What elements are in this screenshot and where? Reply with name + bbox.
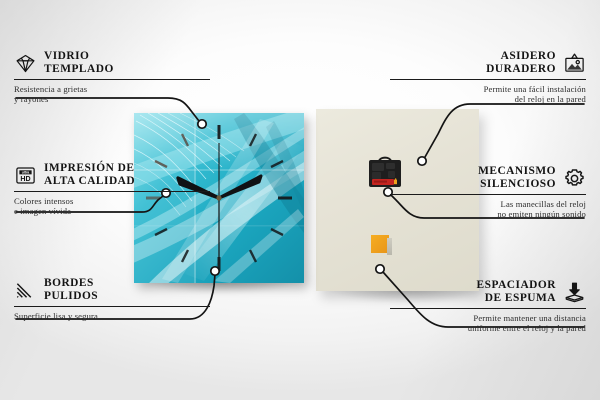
ultra-hd-icon: ultra HD <box>14 164 37 187</box>
desc-line-1: Colores intensos <box>14 196 210 206</box>
divider <box>390 194 586 195</box>
feature-asidero-duradero: ASIDERO DURADERO Permite una fácil insta… <box>390 50 586 105</box>
title-line-1: IMPRESIÓN DE <box>44 162 135 175</box>
title-line-1: ESPACIADOR <box>477 279 556 292</box>
feature-espaciador-espuma: ESPACIADOR DE ESPUMA Permite mantener un… <box>390 279 586 334</box>
divider <box>14 191 210 192</box>
feature-title: ESPACIADOR DE ESPUMA <box>477 279 556 305</box>
divider <box>14 79 210 80</box>
feature-header: MECANISMO SILENCIOSO <box>390 165 586 191</box>
title-line-2: TEMPLADO <box>44 63 114 76</box>
feature-description: Permite mantener una distancia uniforme … <box>390 313 586 334</box>
press-down-pad-icon <box>563 281 586 304</box>
hanging-frame-icon <box>563 52 586 75</box>
feature-description: Permite una fácil instalación del reloj … <box>390 84 586 105</box>
feature-title: MECANISMO SILENCIOSO <box>478 165 556 191</box>
divider <box>390 308 586 309</box>
hd-label: HD <box>20 175 30 183</box>
feature-description: Resistencia a grietas y rayones <box>14 84 210 105</box>
desc-line-2: y rayones <box>14 94 210 104</box>
title-line-1: ASIDERO <box>486 50 556 63</box>
foam-spacer <box>371 235 389 253</box>
feature-header: VIDRIO TEMPLADO <box>14 50 210 76</box>
feature-title: BORDES PULIDOS <box>44 277 98 303</box>
desc-line-2: del reloj en la pared <box>390 94 586 104</box>
divider <box>390 79 586 80</box>
feature-header: ultra HD IMPRESIÓN DE ALTA CALIDAD <box>14 162 210 188</box>
title-line-2: DURADERO <box>486 63 556 76</box>
feature-impresion-alta-calidad: ultra HD IMPRESIÓN DE ALTA CALIDAD Color… <box>14 162 210 217</box>
feature-vidrio-templado: VIDRIO TEMPLADO Resistencia a grietas y … <box>14 50 210 105</box>
title-line-2: ALTA CALIDAD <box>44 175 135 188</box>
feature-bordes-pulidos: BORDES PULIDOS Superficie lisa y segura <box>14 277 210 321</box>
feature-header: ASIDERO DURADERO <box>390 50 586 76</box>
gear-icon <box>563 167 586 190</box>
title-line-2: SILENCIOSO <box>478 178 556 191</box>
feature-description: Superficie lisa y segura <box>14 311 210 321</box>
title-line-1: VIDRIO <box>44 50 114 63</box>
title-line-2: DE ESPUMA <box>477 292 556 305</box>
feature-description: Las manecillas del reloj no emiten ningú… <box>390 199 586 220</box>
polished-edges-icon <box>14 279 37 302</box>
infographic-canvas: VIDRIO TEMPLADO Resistencia a grietas y … <box>0 0 600 400</box>
desc-line-1: Resistencia a grietas <box>14 84 210 94</box>
feature-title: ASIDERO DURADERO <box>486 50 556 76</box>
feature-header: ESPACIADOR DE ESPUMA <box>390 279 586 305</box>
feature-title: VIDRIO TEMPLADO <box>44 50 114 76</box>
desc-line-1: Superficie lisa y segura <box>14 311 210 321</box>
title-line-2: PULIDOS <box>44 290 98 303</box>
feature-mecanismo-silencioso: MECANISMO SILENCIOSO Las manecillas del … <box>390 165 586 220</box>
desc-line-1: Las manecillas del reloj <box>390 199 586 209</box>
diamond-icon <box>14 52 37 75</box>
title-line-1: BORDES <box>44 277 98 290</box>
feature-description: Colores intensos e imagen vívida <box>14 196 210 217</box>
divider <box>14 306 210 307</box>
title-line-1: MECANISMO <box>478 165 556 178</box>
feature-header: BORDES PULIDOS <box>14 277 210 303</box>
desc-line-2: no emiten ningún sonido <box>390 209 586 219</box>
feature-title: IMPRESIÓN DE ALTA CALIDAD <box>44 162 135 188</box>
desc-line-2: e imagen vívida <box>14 206 210 216</box>
desc-line-1: Permite una fácil instalación <box>390 84 586 94</box>
desc-line-1: Permite mantener una distancia <box>390 313 586 323</box>
desc-line-2: uniforme entre el reloj y la pared <box>390 323 586 333</box>
